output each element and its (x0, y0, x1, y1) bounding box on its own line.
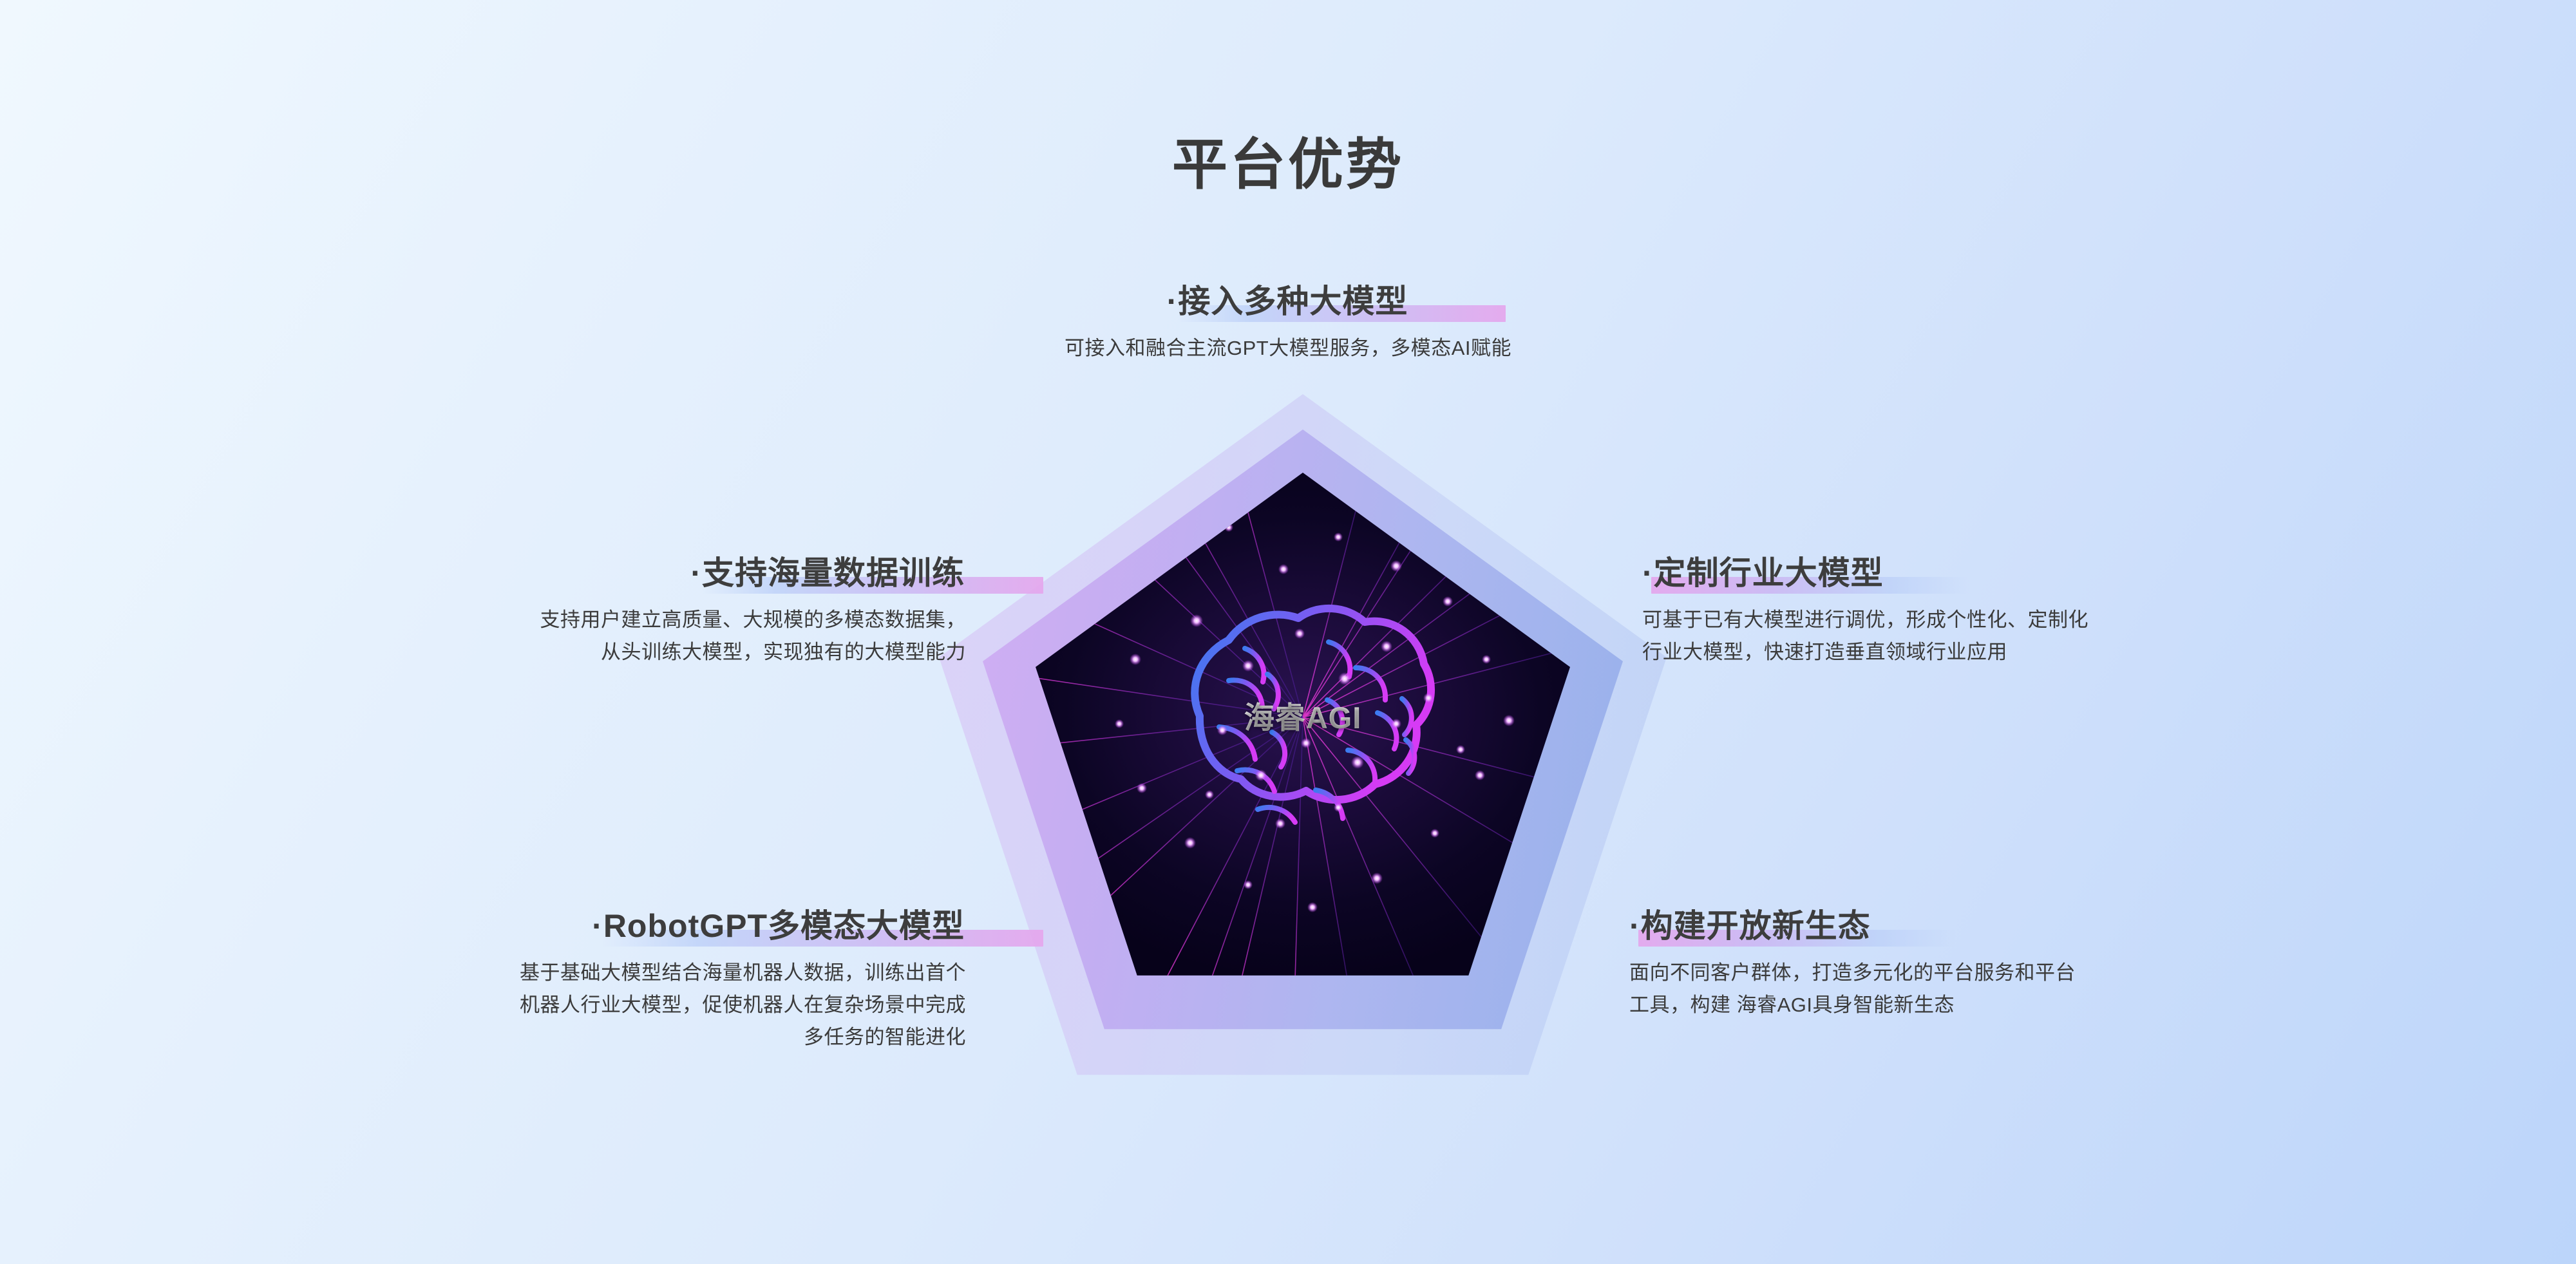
bullet-dot: · (690, 555, 702, 591)
pentagon-graphic: 海睿AGI (939, 394, 1667, 1122)
description-line: 工具，构建 海睿AGI具身智能新生态 (1629, 989, 2434, 1021)
bullet-dot: · (1642, 555, 1654, 591)
heading-text: RobotGPT多模态大模型 (603, 908, 965, 944)
feature-left-bottom-heading: ·RobotGPT多模态大模型 (592, 900, 966, 948)
heading-text: 构建开放新生态 (1641, 908, 1871, 944)
feature-right-top-heading: ·定制行业大模型 (1642, 547, 1885, 595)
bullet-dot: · (1629, 908, 1641, 944)
page-title: 平台优势 (0, 119, 2576, 200)
feature-right-bottom-description: 面向不同客户群体，打造多元化的平台服务和平台 工具，构建 海睿AGI具身智能新生… (1629, 957, 2434, 1021)
description-line: 支持用户建立高质量、大规模的多模态数据集， (200, 604, 966, 636)
description-line: 多任务的智能进化 (180, 1021, 966, 1053)
description-line: 行业大模型，快速打造垂直领域行业应用 (1642, 636, 2434, 668)
description-line: 面向不同客户群体，打造多元化的平台服务和平台 (1629, 957, 2434, 989)
heading-text: 支持海量数据训练 (702, 555, 965, 591)
center-brand-label: 海睿AGI (1036, 693, 1570, 737)
feature-right-top: ·定制行业大模型 可基于已有大模型进行调优，形成个性化、定制化 行业大模型，快速… (1642, 547, 2434, 668)
feature-top: ·接入多种大模型 可接入和融合主流GPT大模型服务，多模态AI赋能 (0, 276, 2576, 364)
feature-top-heading: ·接入多种大模型 (1167, 276, 1410, 323)
description-line: 可基于已有大模型进行调优，形成个性化、定制化 (1642, 604, 2434, 636)
feature-left-bottom-description: 基于基础大模型结合海量机器人数据，训练出首个 机器人行业大模型，促使机器人在复杂… (180, 957, 966, 1054)
feature-left-top-heading: ·支持海量数据训练 (690, 547, 966, 595)
feature-left-bottom: ·RobotGPT多模态大模型 基于基础大模型结合海量机器人数据，训练出首个 机… (180, 900, 966, 1054)
bullet-dot: · (1167, 283, 1179, 319)
description-line: 可接入和融合主流GPT大模型服务，多模态AI赋能 (0, 332, 2576, 364)
feature-right-bottom-heading: ·构建开放新生态 (1629, 900, 1872, 948)
feature-left-top-description: 支持用户建立高质量、大规模的多模态数据集， 从头训练大模型，实现独有的大模型能力 (200, 604, 966, 668)
feature-right-bottom: ·构建开放新生态 面向不同客户群体，打造多元化的平台服务和平台 工具，构建 海睿… (1629, 900, 2434, 1021)
feature-left-top: ·支持海量数据训练 支持用户建立高质量、大规模的多模态数据集， 从头训练大模型，… (200, 547, 966, 668)
bullet-dot: · (592, 908, 603, 944)
heading-text: 接入多种大模型 (1178, 283, 1408, 319)
description-line: 基于基础大模型结合海量机器人数据，训练出首个 (180, 957, 966, 989)
description-line: 机器人行业大模型，促使机器人在复杂场景中完成 (180, 989, 966, 1021)
heading-text: 定制行业大模型 (1654, 555, 1884, 591)
feature-top-description: 可接入和融合主流GPT大模型服务，多模态AI赋能 (0, 332, 2576, 364)
description-line: 从头训练大模型，实现独有的大模型能力 (200, 636, 966, 668)
feature-right-top-description: 可基于已有大模型进行调优，形成个性化、定制化 行业大模型，快速打造垂直领域行业应… (1642, 604, 2434, 668)
